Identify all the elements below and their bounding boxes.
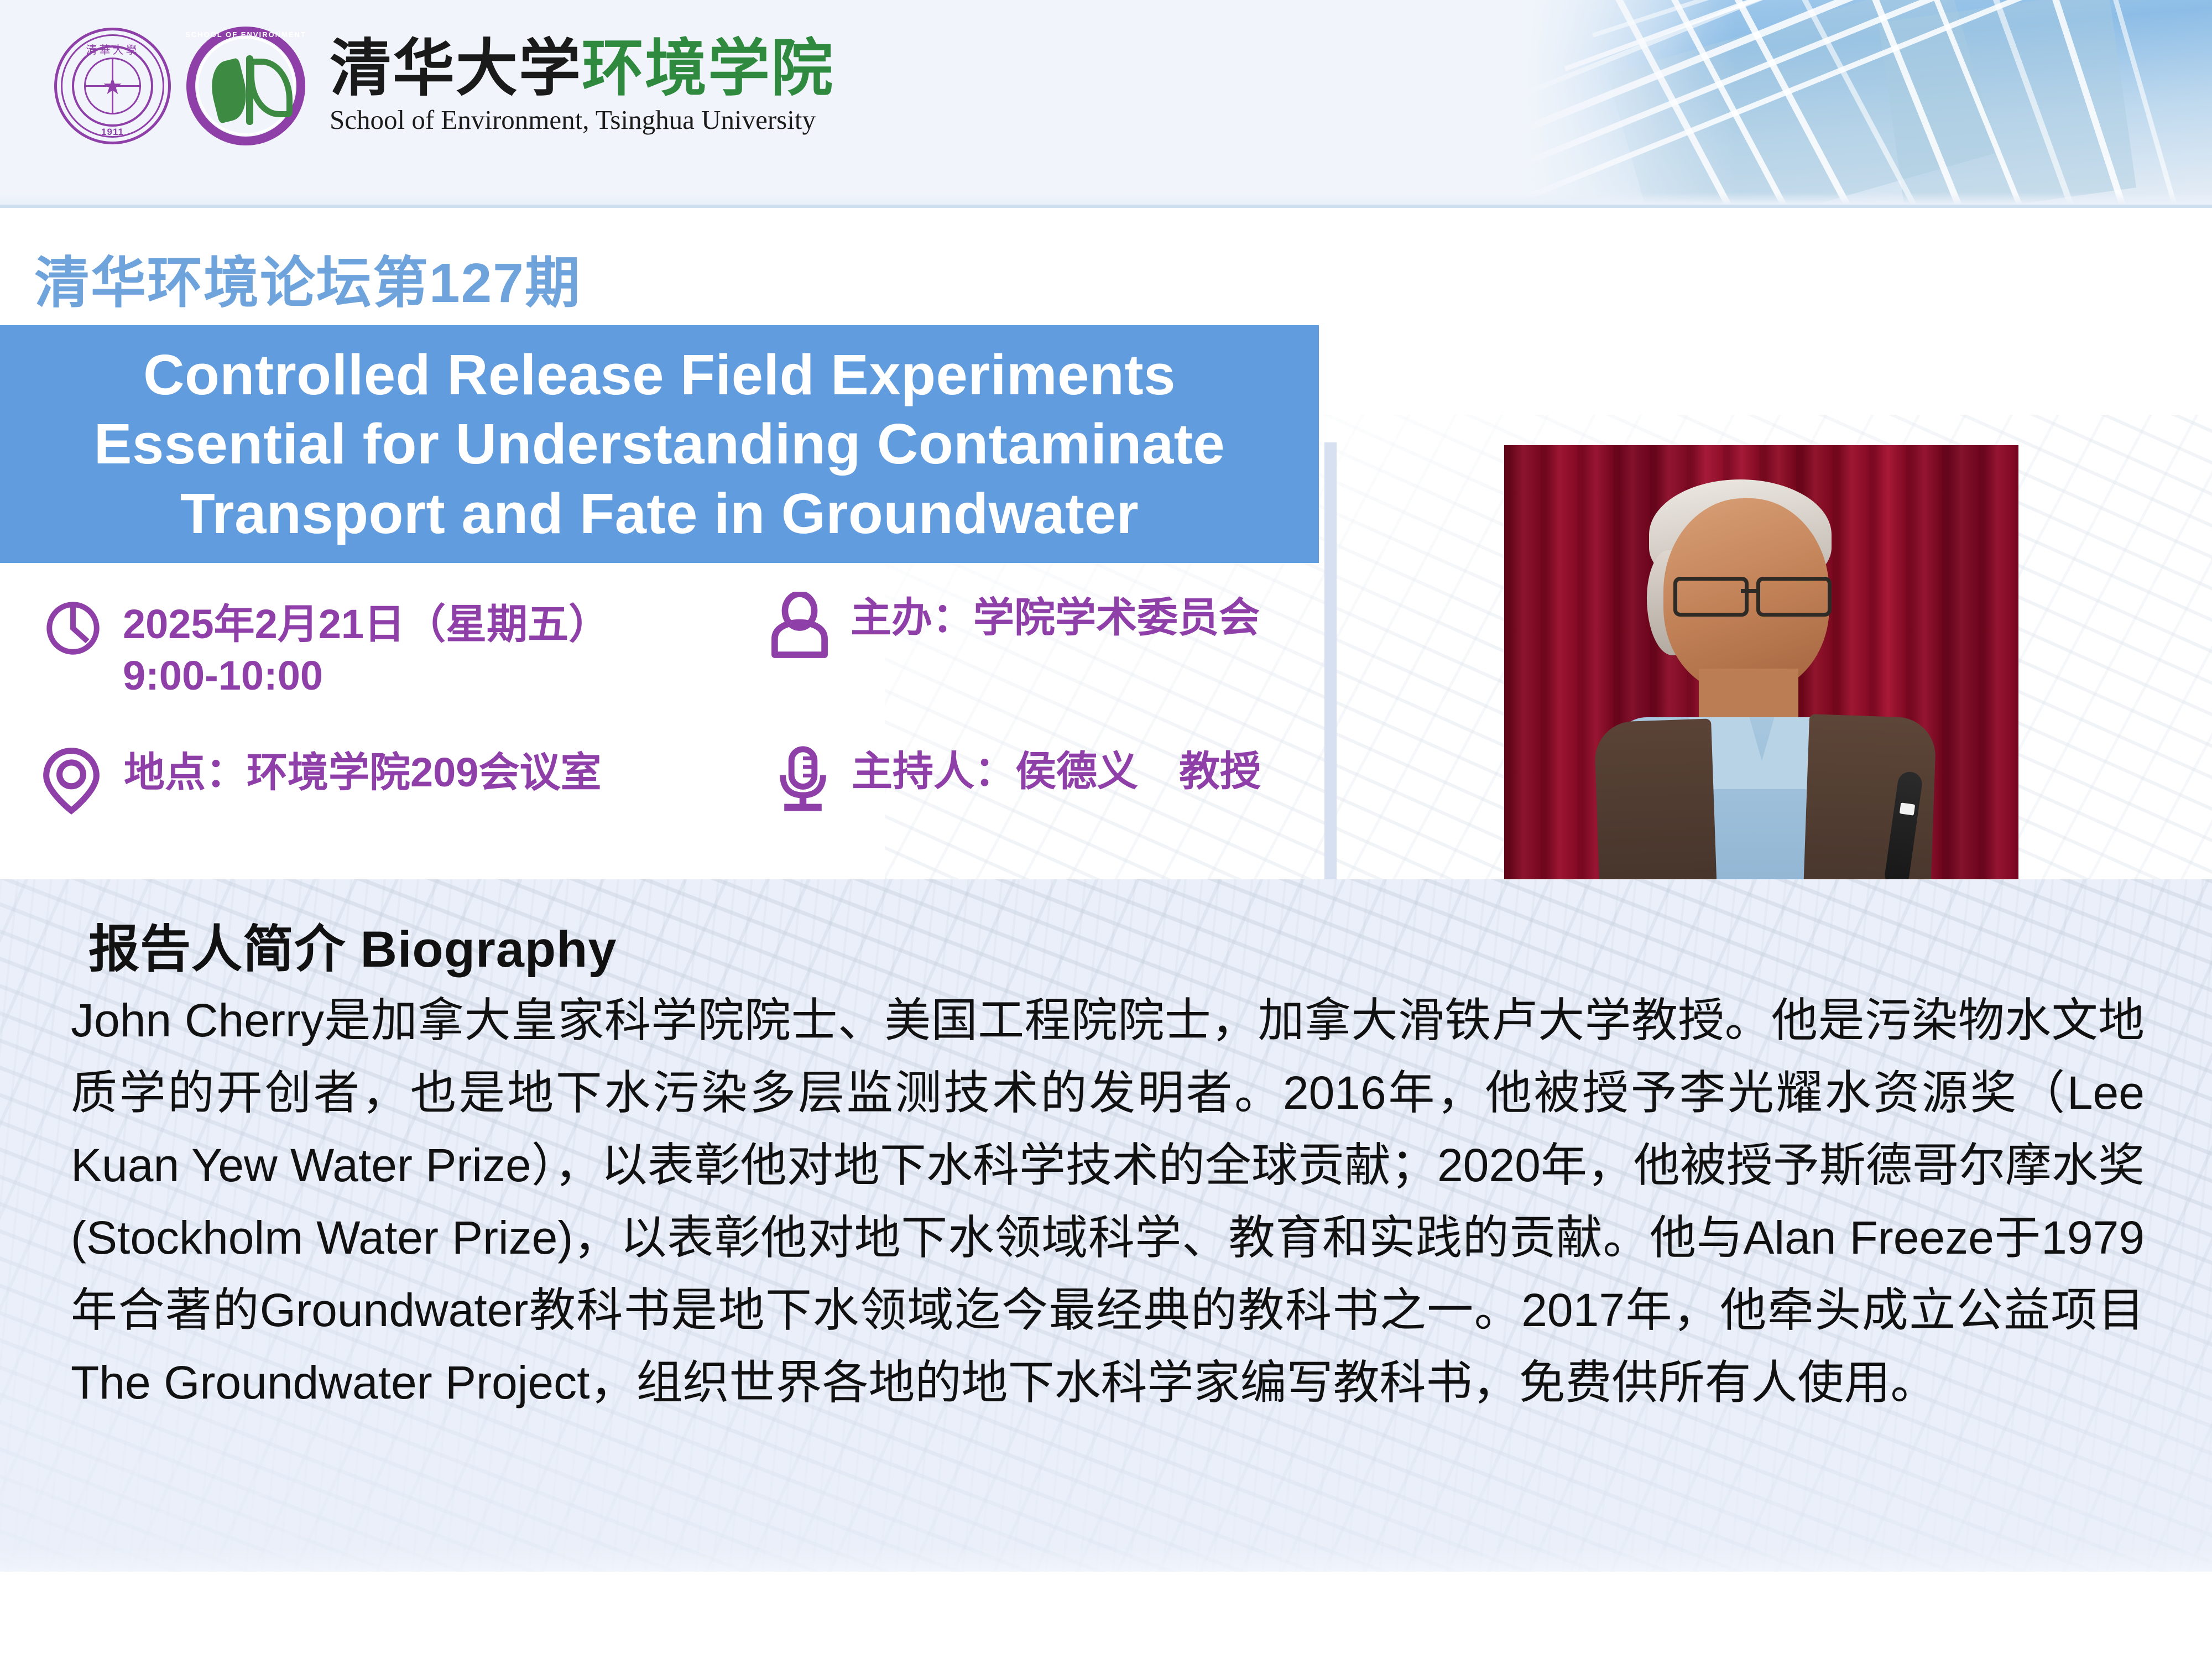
institution-wordmark: 清华大学环境学院 School of Environment, Tsinghua… — [330, 36, 834, 135]
forum-series-label: 清华环境论坛第127期 — [34, 238, 581, 318]
page-title: Controlled Release Field Experiments Ess… — [72, 340, 1247, 549]
event-details-section: 清华环境论坛第127期 Controlled Release Field Exp… — [0, 205, 2212, 879]
location-text: 地点：环境学院209会议室 — [124, 747, 601, 798]
logo-group: ★ 清華大學 1911 SCHOOL OF ENVIRONMENT 清华大学环境… — [53, 27, 834, 145]
seal-top-text: 清華大學 — [86, 41, 139, 57]
talk-title-bar: Controlled Release Field Experiments Ess… — [0, 325, 1319, 563]
footer-strip — [0, 1572, 2212, 1615]
talk-title-line-1: Controlled Release Field Experiments — [94, 340, 1225, 410]
biography-text: John Cherry是加拿大皇家科学院院士、美国工程院院士，加拿大滑铁卢大学教… — [71, 984, 2145, 1419]
env-logo-ring-text: SCHOOL OF ENVIRONMENT — [185, 30, 306, 39]
person-icon — [769, 592, 831, 662]
school-of-environment-logo-icon: SCHOOL OF ENVIRONMENT — [186, 27, 305, 145]
biography-heading: 报告人简介 Biography — [88, 908, 617, 982]
glass-building-header-image — [1427, 0, 2212, 205]
header-divider-rule — [0, 205, 2212, 208]
talk-title-line-2: Essential for Understanding Contaminate — [94, 409, 1225, 479]
info-item-datetime: 2025年2月21日（星期五） 9:00-10:00 — [43, 598, 609, 701]
info-item-organizer: 主办：学院学术委员会 — [769, 592, 1260, 662]
talk-title-line-3: Transport and Fate in Groundwater — [94, 479, 1225, 549]
event-date: 2025年2月21日（星期五） — [123, 601, 609, 647]
seal-year: 1911 — [101, 127, 124, 138]
wordmark-university-cn: 清华大学 — [330, 32, 582, 105]
info-item-host: 主持人：侯德义 教授 — [774, 745, 1261, 819]
info-item-location: 地点：环境学院209会议室 — [39, 747, 601, 819]
clock-icon — [43, 598, 103, 661]
location-pin-icon — [39, 747, 104, 819]
microphone-icon — [774, 745, 832, 819]
event-time: 9:00-10:00 — [123, 650, 609, 701]
biography-section: 报告人简介 Biography John Cherry是加拿大皇家科学院院士、美… — [0, 879, 2212, 1615]
datetime-text: 2025年2月21日（星期五） 9:00-10:00 — [123, 598, 609, 701]
wordmark-english: School of Environment, Tsinghua Universi… — [330, 104, 834, 135]
eyeglasses — [1673, 577, 1839, 610]
host-text: 主持人：侯德义 教授 — [852, 745, 1261, 797]
organizer-text: 主办：学院学术委员会 — [851, 592, 1260, 643]
wordmark-school-cn: 环境学院 — [582, 32, 834, 105]
poster-header: ★ 清華大學 1911 SCHOOL OF ENVIRONMENT 清华大学环境… — [0, 0, 2212, 205]
info-grid: 2025年2月21日（星期五） 9:00-10:00 地点：环境学院209会议室 — [0, 586, 1319, 874]
seminar-poster: ★ 清華大學 1911 SCHOOL OF ENVIRONMENT 清华大学环境… — [0, 0, 2212, 1659]
speaker-panel: John Cherry教授 加拿大科学院院士 美国工程院院士 — [1504, 445, 2018, 879]
tsinghua-university-seal-icon: ★ 清華大學 1911 — [53, 27, 172, 145]
vertical-divider — [1324, 442, 1337, 879]
speaker-photo — [1504, 445, 2018, 879]
